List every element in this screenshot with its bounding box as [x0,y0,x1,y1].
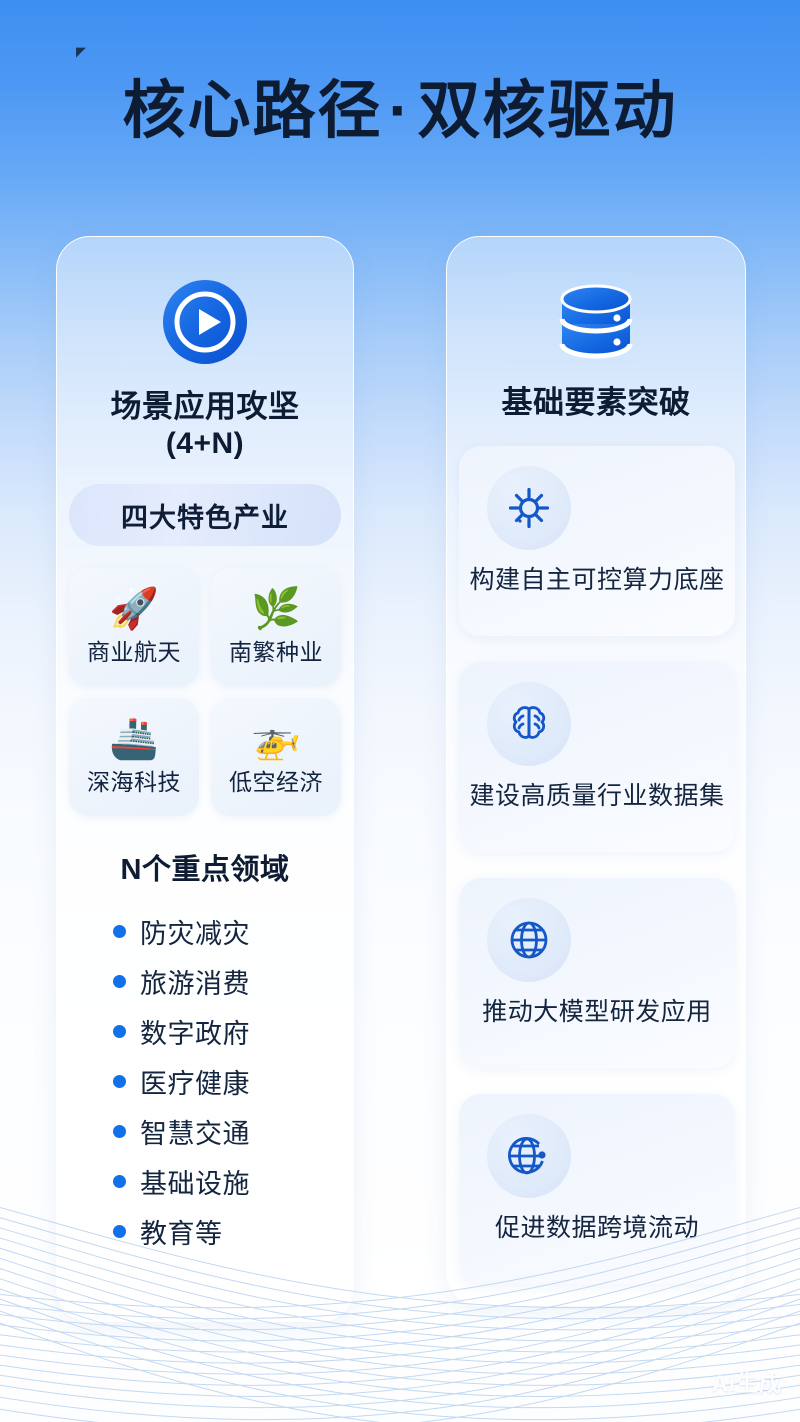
bullet-dot-icon [113,975,126,988]
list-item[interactable]: 旅游消费 [113,956,353,1006]
industry-tile-seedling[interactable]: 🌿 南繁种业 [211,568,341,686]
element-panel-label: 建设高质量行业数据集 [459,776,735,812]
focus-area-label: 智慧交通 [140,1112,250,1151]
industry-tile-label: 低空经济 [229,763,323,797]
left-column-title: 场景应用攻坚 (4+N) [57,388,353,462]
globe-node-icon [487,1114,571,1198]
page-title: 核心路径·双核驱动 [0,78,800,144]
bullet-dot-icon [113,1025,126,1038]
left-column-title-line2: (4+N) [57,426,353,463]
bullet-dot-icon [113,1125,126,1138]
industry-tile-ship[interactable]: 🚢 深海科技 [69,698,199,816]
list-item[interactable]: 数字政府 [113,1006,353,1056]
list-item[interactable]: 医疗健康 [113,1056,353,1106]
right-column-title: 基础要素突破 [447,384,745,422]
bullet-dot-icon [113,1175,126,1188]
list-item[interactable]: 防灾减灾 [113,906,353,956]
focus-area-label: 基础设施 [140,1162,250,1201]
bullet-dot-icon [113,1075,126,1088]
element-panel-compute[interactable]: 构建自主可控算力底座 [459,446,735,636]
element-panel-model[interactable]: 推动大模型研发应用 [459,878,735,1068]
industry-tile-label: 南繁种业 [229,633,323,667]
element-panel-label: 促进数据跨境流动 [459,1208,735,1244]
right-column-card: 基础要素突破 构建自主可控算力底座 [446,236,746,1306]
list-item[interactable]: 智慧交通 [113,1106,353,1156]
industry-tile-label: 深海科技 [87,763,181,797]
helicopter-icon: 🚁 [251,717,301,761]
element-panel-crossborder[interactable]: 促进数据跨境流动 [459,1094,735,1284]
page-title-separator: · [383,76,418,146]
four-industries-pill[interactable]: 四大特色产业 [69,484,341,546]
bullet-dot-icon [113,1225,126,1238]
right-column-header: 基础要素突破 [447,237,745,422]
title-tick-mark: ◤ [76,47,85,56]
list-item[interactable]: 教育等 [113,1206,353,1256]
poster-root: 核心路径·双核驱动 ◤ [0,0,800,1422]
focus-areas-list: 防灾减灾 旅游消费 数字政府 医疗健康 智慧交通 基础设施 [113,906,353,1256]
industry-tile-helicopter[interactable]: 🚁 低空经济 [211,698,341,816]
sun-brightness-icon [487,466,571,550]
industry-tile-rocket[interactable]: 🚀 商业航天 [69,568,199,686]
rocket-icon: 🚀 [109,587,159,631]
left-column-header: 场景应用攻坚 (4+N) [57,237,353,462]
focus-area-label: 医疗健康 [140,1062,250,1101]
focus-area-label: 数字政府 [140,1012,250,1051]
ship-icon: 🚢 [109,717,159,761]
left-column-card: 场景应用攻坚 (4+N) 四大特色产业 🚀 商业航天 🌿 南繁种业 🚢 深海科技… [56,236,354,1322]
industry-tile-label: 商业航天 [87,633,181,667]
focus-area-label: 防灾减灾 [140,912,250,951]
element-panels-list: 构建自主可控算力底座 建设高质量行业数据集 [447,446,745,1284]
left-column-title-line1: 场景应用攻坚 [111,389,300,424]
bullet-dot-icon [113,925,126,938]
industry-tile-grid: 🚀 商业航天 🌿 南繁种业 🚢 深海科技 🚁 低空经济 [69,568,341,816]
element-panel-label: 构建自主可控算力底座 [459,560,735,596]
focus-areas-title: N个重点领域 [57,846,353,888]
focus-area-label: 教育等 [140,1212,223,1251]
page-title-tail: 双核驱动 [417,76,677,146]
element-panel-dataset[interactable]: 建设高质量行业数据集 [459,662,735,852]
focus-area-label: 旅游消费 [140,962,250,1001]
page-title-wrap: 核心路径·双核驱动 [0,78,800,144]
brain-icon [487,682,571,766]
ai-watermark: AI生成 [712,1366,782,1398]
seedling-icon: 🌿 [251,587,301,631]
four-industries-pill-label: 四大特色产业 [121,496,289,535]
page-title-main: 核心路径 [123,76,383,146]
globe-icon [487,898,571,982]
element-panel-label: 推动大模型研发应用 [459,992,735,1028]
list-item[interactable]: 基础设施 [113,1156,353,1206]
play-circle-icon [57,277,353,372]
database-icon [447,277,745,368]
